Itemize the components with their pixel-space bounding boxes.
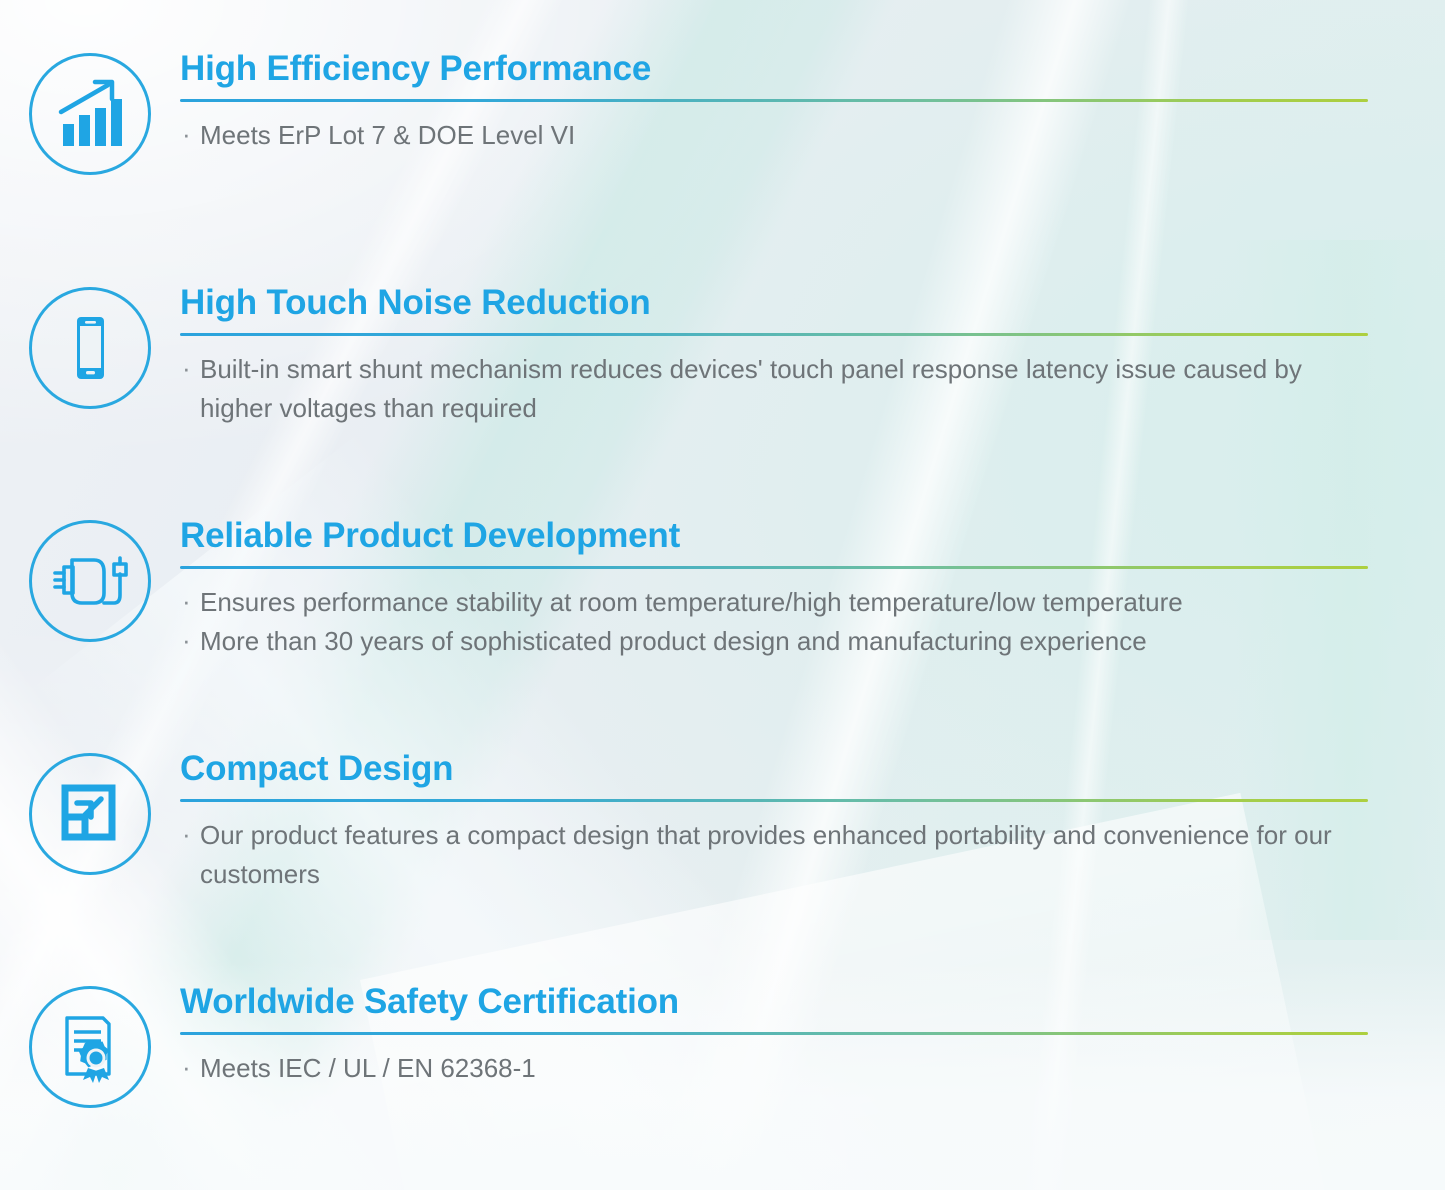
feature-icon-wrap — [0, 283, 180, 409]
feature-bullet: Our product features a compact design th… — [180, 816, 1368, 893]
feature-icon-wrap — [0, 982, 180, 1108]
feature-body: High Touch Noise Reduction Built-in smar… — [180, 283, 1445, 427]
feature-item-high-efficiency-performance: High Efficiency Performance Meets ErP Lo… — [0, 49, 1445, 175]
feature-item-high-touch-noise-reduction: High Touch Noise Reduction Built-in smar… — [0, 283, 1445, 427]
feature-bullet: Meets IEC / UL / EN 62368-1 — [180, 1049, 1368, 1087]
feature-icon-wrap — [0, 49, 180, 175]
feature-bullets: Meets ErP Lot 7 & DOE Level VI — [180, 116, 1368, 154]
feature-highlights-page: High Efficiency Performance Meets ErP Lo… — [0, 0, 1445, 1190]
smartphone-icon — [29, 287, 151, 409]
feature-bullets: Built-in smart shunt mechanism reduces d… — [180, 350, 1368, 427]
bar-chart-growth-icon — [29, 53, 151, 175]
feature-title: High Touch Noise Reduction — [180, 283, 1368, 323]
feature-icon-wrap — [0, 749, 180, 875]
feature-icon-wrap — [0, 516, 180, 642]
feature-title: High Efficiency Performance — [180, 49, 1368, 89]
feature-divider — [180, 333, 1368, 336]
certificate-seal-icon — [29, 986, 151, 1108]
feature-bullet: Ensures performance stability at room te… — [180, 583, 1368, 621]
feature-bullets: Ensures performance stability at room te… — [180, 583, 1368, 660]
power-adapter-icon — [29, 520, 151, 642]
feature-bullets: Meets IEC / UL / EN 62368-1 — [180, 1049, 1368, 1087]
feature-divider — [180, 99, 1368, 102]
feature-body: High Efficiency Performance Meets ErP Lo… — [180, 49, 1445, 155]
feature-bullets: Our product features a compact design th… — [180, 816, 1368, 893]
compact-resize-icon — [29, 753, 151, 875]
feature-bullet: Meets ErP Lot 7 & DOE Level VI — [180, 116, 1368, 154]
feature-item-compact-design: Compact Design Our product features a co… — [0, 749, 1445, 893]
feature-body: Reliable Product Development Ensures per… — [180, 516, 1445, 660]
feature-title: Reliable Product Development — [180, 516, 1368, 556]
feature-divider — [180, 566, 1368, 569]
feature-body: Compact Design Our product features a co… — [180, 749, 1445, 893]
feature-divider — [180, 1032, 1368, 1035]
feature-title: Worldwide Safety Certification — [180, 982, 1368, 1022]
feature-divider — [180, 799, 1368, 802]
feature-body: Worldwide Safety Certification Meets IEC… — [180, 982, 1445, 1088]
feature-item-reliable-product-development: Reliable Product Development Ensures per… — [0, 516, 1445, 660]
feature-item-worldwide-safety-certification: Worldwide Safety Certification Meets IEC… — [0, 982, 1445, 1108]
feature-bullet: Built-in smart shunt mechanism reduces d… — [180, 350, 1368, 427]
feature-title: Compact Design — [180, 749, 1368, 789]
feature-bullet: More than 30 years of sophisticated prod… — [180, 622, 1368, 660]
